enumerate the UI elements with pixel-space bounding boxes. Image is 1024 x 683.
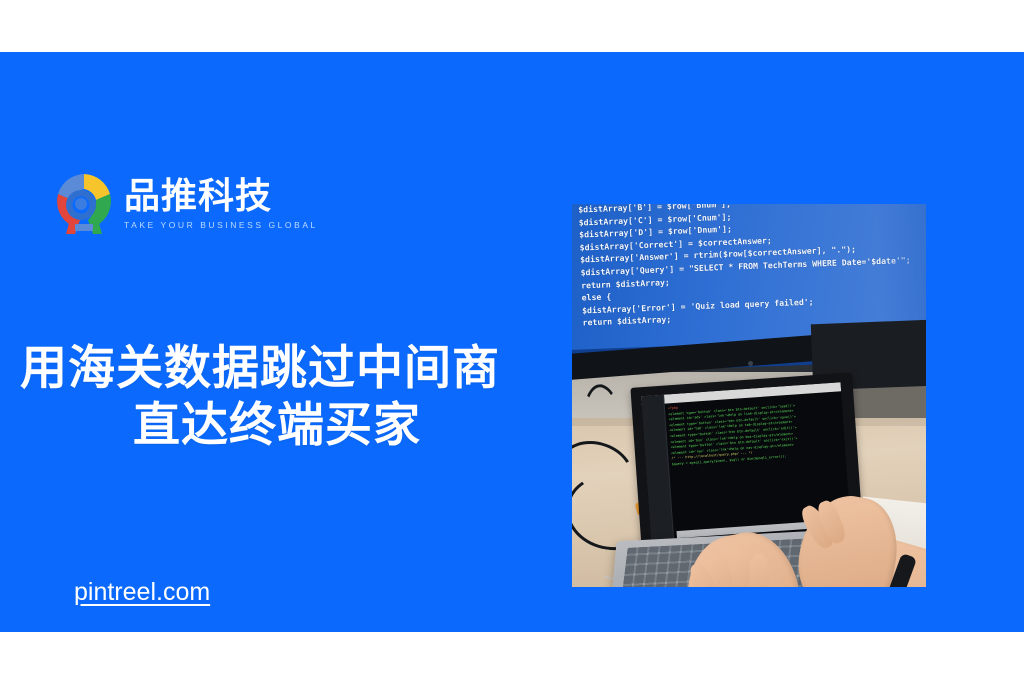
logo-wordmark: 品推科技 TAKE YOUR BUSINESS GLOBAL — [124, 176, 318, 230]
laptop-code-text: <?php <element type='button' class='btn … — [668, 394, 848, 468]
headline: 用海关数据跳过中间商 直达终端买家 — [20, 340, 540, 455]
headline-line-1: 用海关数据跳过中间商 — [20, 340, 540, 397]
blue-banner: 品推科技 TAKE YOUR BUSINESS GLOBAL 用海关数据跳过中间… — [0, 52, 1024, 632]
monitor-glare — [876, 204, 926, 338]
brand-logo[interactable]: 品推科技 TAKE YOUR BUSINESS GLOBAL — [52, 170, 318, 236]
company-tagline: TAKE YOUR BUSINESS GLOBAL — [124, 220, 318, 230]
headline-line-2: 直达终端买家 — [20, 397, 540, 454]
pintreel-circular-ring-logo-icon — [52, 170, 116, 236]
monitor-led-icon — [748, 361, 753, 366]
website-link[interactable]: pintreel.com — [74, 578, 210, 607]
company-name: 品推科技 — [124, 178, 318, 216]
hero-photo: $distArray['B'] = $row['Bnum']; $distArr… — [572, 204, 926, 587]
monitor-code-text: $distArray['B'] = $row['Bnum']; $distArr… — [574, 204, 913, 330]
